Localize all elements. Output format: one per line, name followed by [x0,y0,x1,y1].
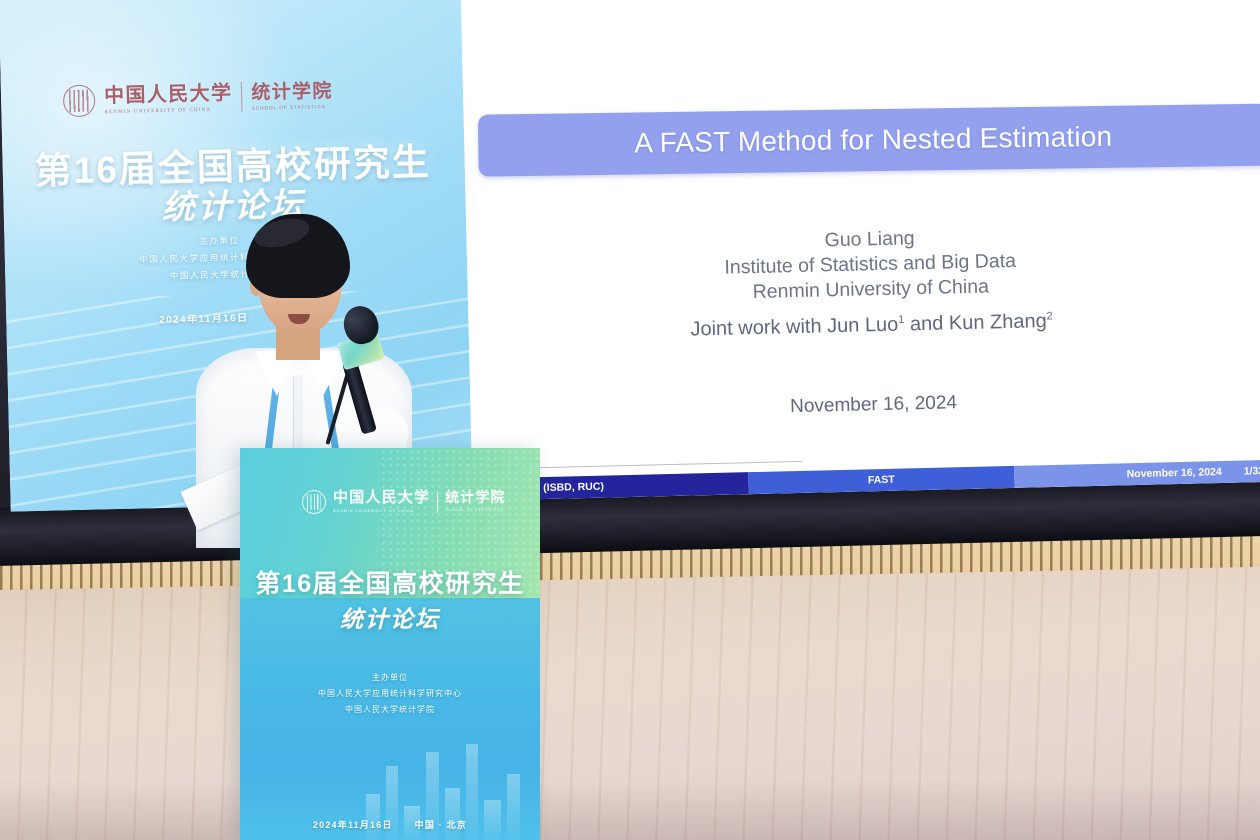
podium-date: 2024年11月16日 [313,820,393,830]
author-block: Guo Liang Institute of Statistics and Bi… [466,218,1260,312]
slide-date: November 16, 2024 [470,385,1260,426]
projection-screen: 中国人民大学 RENMIN UNIVERSITY OF CHINA 统计学院 S… [0,0,1260,548]
ruc-university-name-cn: 中国人民大学 [104,83,233,106]
screen-display-area: 中国人民大学 RENMIN UNIVERSITY OF CHINA 统计学院 S… [0,0,1260,512]
podium-panel: 中国人民大学 RENMIN UNIVERSITY OF CHINA 统计学院 S… [240,448,540,840]
ruc-school-name-en: SCHOOL OF STATISTICS [252,103,333,110]
joint-work-line: Joint work with Jun Luo1 and Kun Zhang2 [469,305,1260,347]
joint-work-middle: and Kun Zhang [904,310,1047,335]
beamer-footer-date: November 16, 2024 [1127,466,1222,480]
logo-divider [241,82,243,112]
joint-work-sup-2: 2 [1046,310,1052,322]
podium-bottom-line: 2024年11月16日中国 · 北京 [240,818,540,831]
podium-ruc-seal-icon [302,490,326,514]
podium-title-line2: 统计论坛 [240,600,540,634]
podium-logo-divider [437,491,438,513]
joint-work-prefix: Joint work with Jun Luo [690,314,898,341]
ruc-university-name-en: RENMIN UNIVERSITY OF CHINA [104,106,233,115]
ruc-seal-icon [63,84,96,117]
podium-university-name-en: RENMIN UNIVERSITY OF CHINA [333,509,430,513]
slide-title-banner: A FAST Method for Nested Estimation [478,104,1260,177]
podium-host-line1: 中国人民大学应用统计科学研究中心 [240,686,540,702]
podium-city: 中国 · 北京 [415,820,467,830]
podium-school-name-en: SCHOOL OF STATISTICS [445,508,505,512]
speaker-hair [246,214,350,298]
podium-host-label: 主办单位 [240,670,540,686]
beamer-footer-page: 1/32 [1244,465,1260,477]
presentation-scene: 中国人民大学 RENMIN UNIVERSITY OF CHINA 统计学院 S… [0,0,1260,840]
podium-ruc-logo: 中国人民大学 RENMIN UNIVERSITY OF CHINA 统计学院 S… [302,490,506,514]
beamer-title-slide: A FAST Method for Nested Estimation Guo … [461,0,1260,501]
podium-host-line2: 中国人民大学统计学院 [240,702,540,718]
ruc-logo: 中国人民大学 RENMIN UNIVERSITY OF CHINA 统计学院 S… [63,70,394,124]
podium-host-block: 主办单位 中国人民大学应用统计科学研究中心 中国人民大学统计学院 [240,670,540,718]
podium-university-name-cn: 中国人民大学 [333,491,430,506]
ruc-school-name-cn: 统计学院 [251,81,333,102]
slide-title-text: A FAST Method for Nested Estimation [634,121,1112,160]
floor-shadow [0,780,1260,840]
podium-school-name-cn: 统计学院 [445,492,505,506]
podium-title-line1: 第16届全国高校研究生 [240,564,540,600]
